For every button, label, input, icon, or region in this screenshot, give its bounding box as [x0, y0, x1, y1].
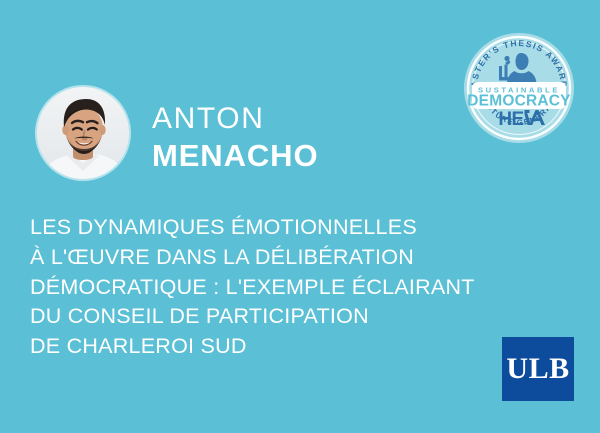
hera-wordmark-text: HE	[498, 109, 523, 130]
hera-seal-icon: MASTER'S THESIS AWARDS FOR FUTURE GENERA…	[461, 30, 577, 146]
thesis-title-line-5: DE CHARLEROI SUD	[30, 332, 500, 362]
person-name: ANTON MENACHO	[152, 101, 442, 174]
thesis-title-line-3: DÉMOCRATIQUE : L'EXEMPLE ÉCLAIRANT	[30, 273, 500, 303]
thesis-title: LES DYNAMIQUES ÉMOTIONNELLES À L'ŒUVRE D…	[30, 213, 500, 362]
seal-band: SUSTAINABLE DEMOCRACY	[467, 82, 571, 110]
hera-award-seal: MASTER'S THESIS AWARDS FOR FUTURE GENERA…	[461, 30, 577, 146]
ulb-logo: ULB	[502, 337, 574, 401]
ulb-logo-text: ULB	[506, 354, 569, 384]
person-first-name: ANTON	[152, 101, 442, 137]
award-card: ANTON MENACHO LES DYNAMIQUES ÉMOTIONNELL…	[0, 0, 600, 433]
thesis-title-line-4: DU CONSEIL DE PARTICIPATION	[30, 302, 500, 332]
thesis-title-line-1: LES DYNAMIQUES ÉMOTIONNELLES	[30, 213, 500, 243]
person-last-name: MENACHO	[152, 137, 442, 174]
seal-democracy-text: DEMOCRACY	[467, 93, 571, 110]
portrait-photo-icon	[37, 87, 129, 179]
thesis-title-line-2: À L'ŒUVRE DANS LA DÉLIBÉRATION	[30, 243, 500, 273]
avatar	[37, 87, 129, 179]
